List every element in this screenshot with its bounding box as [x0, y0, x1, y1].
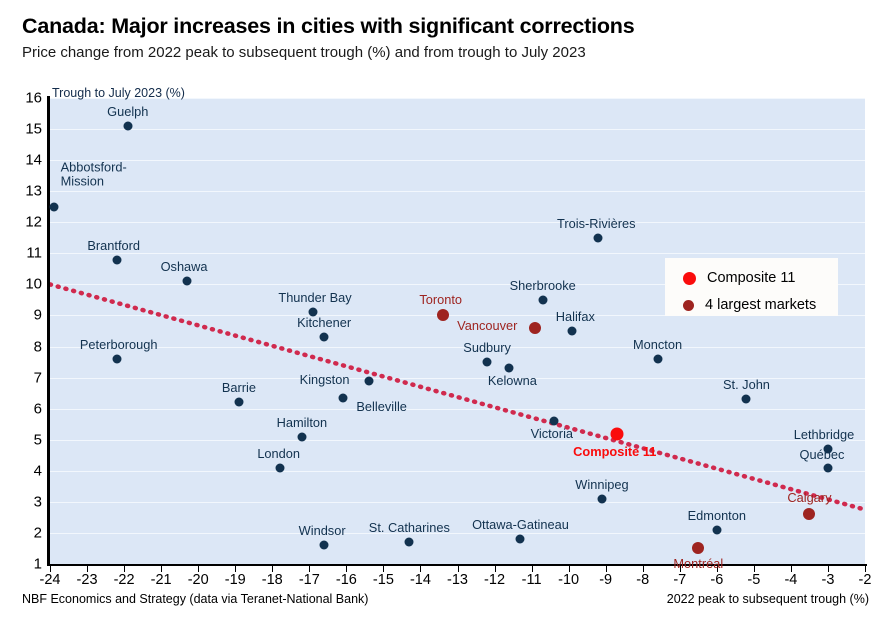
chart-legend: Composite 114 largest markets: [665, 258, 838, 316]
x-tick-mark: [272, 566, 273, 572]
y-tick-label: 16: [16, 90, 42, 107]
x-tick-mark: [606, 566, 607, 572]
y-axis-line: [47, 96, 50, 566]
x-tick-label: -2: [845, 572, 885, 588]
x-tick-mark: [235, 566, 236, 572]
x-tick-label: -24: [30, 572, 70, 588]
data-point-label: Brantford: [87, 238, 140, 252]
data-point-label: Lethbridge: [794, 428, 854, 442]
x-tick-mark: [420, 566, 421, 572]
data-point-label: Moncton: [633, 338, 682, 352]
data-point[interactable]: [112, 354, 121, 363]
data-point-label: Vancouver: [457, 319, 517, 333]
data-point-label: Composite 11: [573, 444, 656, 458]
data-point-label: Kitchener: [297, 316, 351, 330]
data-point-label: Toronto: [419, 293, 462, 307]
x-tick-mark: [198, 566, 199, 572]
data-point-label: Thunder Bay: [278, 291, 351, 305]
data-point-label: Victoria: [531, 427, 573, 441]
data-point-label: Kingston: [300, 373, 350, 387]
x-tick-mark: [87, 566, 88, 572]
gridline: [50, 502, 865, 503]
data-point[interactable]: [49, 202, 58, 211]
gridline: [50, 191, 865, 192]
x-tick-mark: [865, 566, 866, 572]
data-point-label: Peterborough: [80, 338, 158, 352]
data-point[interactable]: [183, 277, 192, 286]
data-point[interactable]: [653, 354, 662, 363]
data-point-label: Windsor: [299, 524, 346, 538]
data-point[interactable]: [712, 525, 721, 534]
data-point-label: Belleville: [356, 400, 407, 414]
x-tick-mark: [458, 566, 459, 572]
x-tick-mark: [50, 566, 51, 572]
x-tick-label: -21: [141, 572, 181, 588]
y-axis-title: Trough to July 2023 (%): [52, 86, 185, 100]
data-point-label: Abbotsford-Mission: [61, 160, 127, 189]
x-tick-label: -7: [660, 572, 700, 588]
x-tick-label: -18: [252, 572, 292, 588]
data-point-label: Halifax: [556, 310, 595, 324]
x-tick-label: -20: [178, 572, 218, 588]
legend-item[interactable]: Composite 11: [683, 270, 795, 286]
data-point-label: Calgary: [787, 491, 831, 505]
x-tick-mark: [346, 566, 347, 572]
data-point[interactable]: [320, 541, 329, 550]
x-tick-label: -11: [512, 572, 552, 588]
x-tick-mark: [161, 566, 162, 572]
legend-swatch-icon: [683, 300, 694, 311]
data-point-label: St. Catharines: [369, 521, 450, 535]
x-tick-label: -14: [400, 572, 440, 588]
data-point[interactable]: [568, 327, 577, 336]
y-tick-label: 12: [16, 214, 42, 231]
data-point-label: Guelph: [107, 105, 148, 119]
x-tick-mark: [309, 566, 310, 572]
y-tick-label: 9: [16, 307, 42, 324]
data-point[interactable]: [549, 417, 558, 426]
y-tick-label: 4: [16, 462, 42, 479]
x-tick-label: -3: [808, 572, 848, 588]
x-tick-label: -19: [215, 572, 255, 588]
y-tick-label: 6: [16, 400, 42, 417]
y-tick-label: 15: [16, 121, 42, 138]
data-point[interactable]: [597, 494, 606, 503]
data-point[interactable]: [364, 376, 373, 385]
x-tick-mark: [569, 566, 570, 572]
y-tick-label: 7: [16, 369, 42, 386]
data-point[interactable]: [742, 395, 751, 404]
data-point-label: Trois-Rivières: [557, 217, 635, 231]
x-tick-label: -5: [734, 572, 774, 588]
y-tick-label: 13: [16, 183, 42, 200]
data-point[interactable]: [297, 432, 306, 441]
x-tick-label: -10: [549, 572, 589, 588]
x-axis-title: 2022 peak to subsequent trough (%): [667, 592, 869, 606]
gridline: [50, 253, 865, 254]
data-point[interactable]: [123, 121, 132, 130]
gridline: [50, 222, 865, 223]
data-point[interactable]: [529, 322, 541, 334]
x-tick-mark: [124, 566, 125, 572]
gridline: [50, 409, 865, 410]
data-point-label: Sudbury: [463, 341, 511, 355]
data-point-label: Edmonton: [688, 509, 746, 523]
x-tick-label: -16: [326, 572, 366, 588]
data-point[interactable]: [516, 535, 525, 544]
legend-swatch-icon: [683, 272, 696, 285]
data-point[interactable]: [275, 463, 284, 472]
x-tick-mark: [383, 566, 384, 572]
y-tick-label: 14: [16, 152, 42, 169]
data-point-label: Québec: [800, 448, 845, 462]
x-tick-label: -22: [104, 572, 144, 588]
data-point[interactable]: [823, 463, 832, 472]
data-point[interactable]: [594, 233, 603, 242]
x-tick-mark: [791, 566, 792, 572]
x-tick-mark: [754, 566, 755, 572]
x-tick-mark: [828, 566, 829, 572]
x-tick-label: -9: [586, 572, 626, 588]
data-point[interactable]: [538, 295, 547, 304]
data-point[interactable]: [803, 508, 815, 520]
data-point[interactable]: [405, 538, 414, 547]
gridline: [50, 129, 865, 130]
data-point-label: Ottawa-Gatineau: [472, 518, 569, 532]
data-point-label: Montréal: [673, 557, 723, 571]
x-tick-label: -8: [623, 572, 663, 588]
data-point-label: Kelowna: [488, 374, 537, 388]
legend-label: Composite 11: [707, 270, 795, 286]
chart-subtitle: Price change from 2022 peak to subsequen…: [22, 44, 586, 61]
gridline: [50, 347, 865, 348]
data-point[interactable]: [610, 427, 623, 440]
data-point[interactable]: [338, 393, 347, 402]
legend-item[interactable]: 4 largest markets: [683, 297, 816, 313]
y-tick-label: 5: [16, 431, 42, 448]
x-tick-mark: [495, 566, 496, 572]
x-tick-mark: [643, 566, 644, 572]
y-tick-label: 11: [16, 245, 42, 262]
data-point-label: Hamilton: [277, 415, 328, 429]
y-tick-label: 8: [16, 338, 42, 355]
x-tick-label: -4: [771, 572, 811, 588]
x-tick-label: -13: [438, 572, 478, 588]
x-tick-label: -12: [475, 572, 515, 588]
data-point[interactable]: [320, 333, 329, 342]
data-point[interactable]: [437, 309, 449, 321]
chart-container: Canada: Major increases in cities with s…: [0, 0, 887, 624]
data-point-label: Oshawa: [161, 260, 208, 274]
data-point-label: London: [257, 447, 300, 461]
x-tick-label: -23: [67, 572, 107, 588]
legend-label: 4 largest markets: [705, 297, 816, 313]
data-point-label: Barrie: [222, 381, 256, 395]
data-point[interactable]: [112, 255, 121, 264]
data-point-label: St. John: [723, 378, 770, 392]
gridline: [50, 160, 865, 161]
y-tick-label: 10: [16, 276, 42, 293]
gridline: [50, 533, 865, 534]
x-tick-label: -6: [697, 572, 737, 588]
y-tick-label: 1: [16, 556, 42, 573]
page-title: Canada: Major increases in cities with s…: [22, 14, 634, 39]
source-note: NBF Economics and Strategy (data via Ter…: [22, 592, 368, 606]
data-point[interactable]: [483, 358, 492, 367]
gridline: [50, 471, 865, 472]
data-point[interactable]: [692, 542, 704, 554]
x-tick-label: -17: [289, 572, 329, 588]
data-point-label: Winnipeg: [575, 478, 628, 492]
data-point-label: Sherbrooke: [510, 279, 576, 293]
gridline: [50, 440, 865, 441]
data-point[interactable]: [505, 364, 514, 373]
data-point[interactable]: [234, 398, 243, 407]
x-tick-mark: [532, 566, 533, 572]
x-tick-label: -15: [363, 572, 403, 588]
y-tick-label: 2: [16, 524, 42, 541]
y-tick-label: 3: [16, 493, 42, 510]
